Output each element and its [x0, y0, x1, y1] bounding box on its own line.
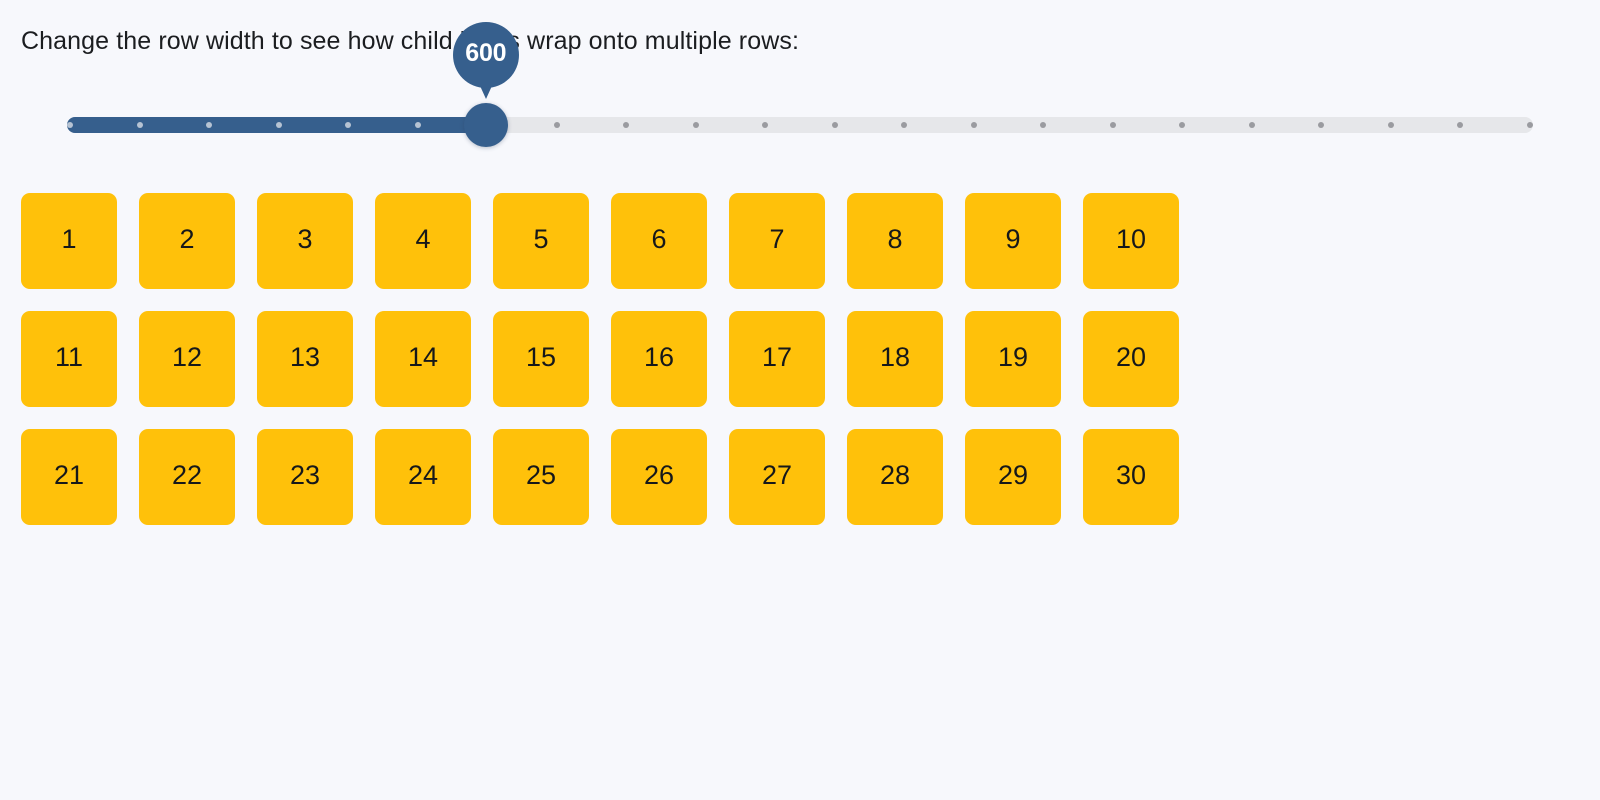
- slider-tick: [415, 122, 421, 128]
- slider-tick: [1527, 122, 1533, 128]
- slider-tick-marks: [67, 117, 1533, 133]
- slider-tick: [762, 122, 768, 128]
- flex-item: 13: [257, 311, 353, 407]
- slider-thumb[interactable]: [464, 103, 508, 147]
- wrapping-row: 1234567891011121314151617181920212223242…: [21, 193, 1199, 525]
- slider-tick: [693, 122, 699, 128]
- flex-item: 8: [847, 193, 943, 289]
- slider-tick: [1249, 122, 1255, 128]
- slider-tick: [345, 122, 351, 128]
- flex-item: 11: [21, 311, 117, 407]
- flex-item: 18: [847, 311, 943, 407]
- flex-item: 12: [139, 311, 235, 407]
- flex-item: 1: [21, 193, 117, 289]
- flex-item: 28: [847, 429, 943, 525]
- flex-item: 29: [965, 429, 1061, 525]
- slider-tick: [554, 122, 560, 128]
- slider-tick: [1040, 122, 1046, 128]
- slider-tick: [832, 122, 838, 128]
- flex-item: 2: [139, 193, 235, 289]
- flex-item: 3: [257, 193, 353, 289]
- flex-item: 27: [729, 429, 825, 525]
- page-instruction: Change the row width to see how child it…: [21, 25, 799, 57]
- slider-tick: [1388, 122, 1394, 128]
- flex-item: 22: [139, 429, 235, 525]
- slider-tick: [971, 122, 977, 128]
- flex-item: 4: [375, 193, 471, 289]
- slider-tick: [276, 122, 282, 128]
- flex-item: 6: [611, 193, 707, 289]
- slider-tick: [1457, 122, 1463, 128]
- slider-value-label: 600: [453, 22, 519, 84]
- flex-item: 19: [965, 311, 1061, 407]
- flex-item: 14: [375, 311, 471, 407]
- flex-item: 21: [21, 429, 117, 525]
- slider-tick: [206, 122, 212, 128]
- slider-tick: [1318, 122, 1324, 128]
- slider-tick: [67, 122, 73, 128]
- flex-item: 26: [611, 429, 707, 525]
- flex-item: 24: [375, 429, 471, 525]
- slider-tick: [623, 122, 629, 128]
- slider-tick: [1179, 122, 1185, 128]
- row-width-slider[interactable]: [67, 117, 1533, 133]
- slider-value-tooltip: 600: [453, 22, 519, 99]
- page-root: Change the row width to see how child it…: [0, 0, 1600, 800]
- flex-item: 9: [965, 193, 1061, 289]
- flex-item: 25: [493, 429, 589, 525]
- flex-item: 23: [257, 429, 353, 525]
- slider-tick: [901, 122, 907, 128]
- flex-item: 15: [493, 311, 589, 407]
- flex-item: 5: [493, 193, 589, 289]
- flex-item: 16: [611, 311, 707, 407]
- flex-item: 7: [729, 193, 825, 289]
- flex-item: 10: [1083, 193, 1179, 289]
- flex-item: 20: [1083, 311, 1179, 407]
- slider-tick: [1110, 122, 1116, 128]
- flex-item: 30: [1083, 429, 1179, 525]
- slider-tick: [137, 122, 143, 128]
- flex-item: 17: [729, 311, 825, 407]
